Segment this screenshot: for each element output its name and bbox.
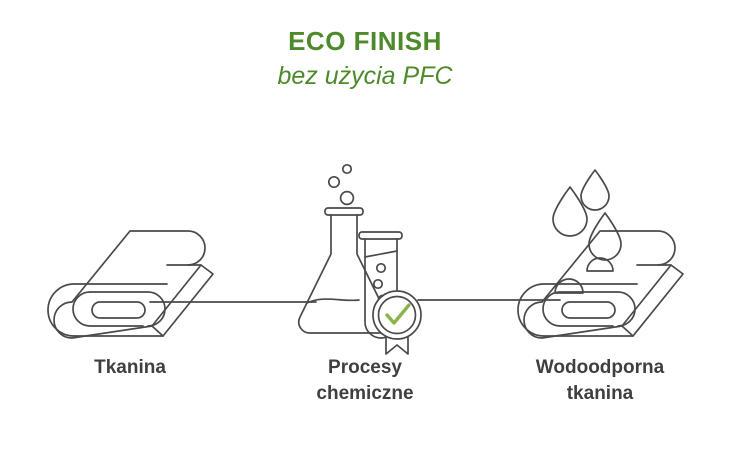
test-tube-collar-icon	[359, 232, 402, 239]
green-check-seal-icon	[373, 291, 421, 354]
caption-waterproof-fabric-line-1: Wodoodporna	[490, 355, 710, 381]
caption-row: Tkanina Procesy chemiczne Wodoodporna tk…	[0, 355, 730, 425]
caption-waterproof-fabric: Wodoodporna tkanina	[490, 355, 710, 406]
caption-chemical-processes: Procesy chemiczne	[260, 355, 470, 406]
tube-bubble-2-icon	[374, 280, 382, 288]
caption-chemical-processes-line-1: Procesy	[260, 355, 470, 381]
waterproof-fabric-icon	[518, 170, 683, 338]
eco-finish-infographic: ECO FINISH bez użycia PFC	[0, 0, 730, 449]
caption-fabric-line-1: Tkanina	[20, 355, 240, 381]
test-tube-liquid-icon	[365, 251, 397, 257]
tube-bubble-1-icon	[377, 264, 385, 272]
seal-circle-icon	[373, 291, 421, 339]
droplet-center-icon	[589, 213, 621, 260]
caption-chemical-processes-line-2: chemiczne	[260, 381, 470, 407]
heading-block: ECO FINISH bez użycia PFC	[0, 26, 730, 92]
folded-fabric-icon	[48, 231, 213, 338]
caption-fabric: Tkanina	[20, 355, 240, 381]
bubble-medium-icon	[329, 177, 339, 187]
bubble-small-icon	[343, 165, 351, 173]
page-subtitle: bez użycia PFC	[0, 61, 730, 92]
page-title: ECO FINISH	[0, 26, 730, 57]
illustration-stage	[0, 150, 730, 360]
flask-collar-icon	[325, 208, 363, 215]
caption-waterproof-fabric-line-2: tkanina	[490, 381, 710, 407]
process-illustration	[0, 150, 730, 360]
droplet-top-right-icon	[581, 170, 609, 210]
bubble-large-icon	[341, 192, 354, 205]
